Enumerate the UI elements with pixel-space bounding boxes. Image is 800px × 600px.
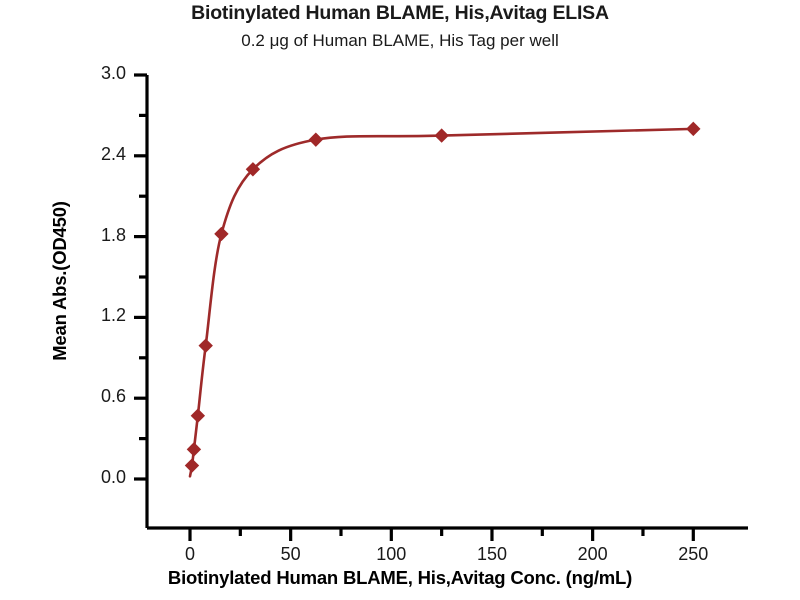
data-point-marker xyxy=(309,132,323,146)
data-point-marker xyxy=(214,227,228,241)
x-tick-label: 100 xyxy=(356,544,426,565)
data-point-marker xyxy=(187,442,201,456)
data-series xyxy=(185,122,701,477)
data-point-marker xyxy=(199,338,213,352)
y-tick-label: 3.0 xyxy=(68,63,126,84)
data-point-marker xyxy=(191,409,205,423)
x-tick-label: 0 xyxy=(155,544,225,565)
x-tick-label: 150 xyxy=(457,544,527,565)
axes xyxy=(134,75,748,541)
data-point-marker xyxy=(434,128,448,142)
fit-curve xyxy=(190,129,693,476)
y-tick-label: 1.2 xyxy=(68,305,126,326)
data-point-marker xyxy=(185,458,199,472)
x-tick-label: 200 xyxy=(558,544,628,565)
y-tick-label: 2.4 xyxy=(68,144,126,165)
y-tick-label: 0.0 xyxy=(68,467,126,488)
y-tick-label: 0.6 xyxy=(68,386,126,407)
x-tick-label: 250 xyxy=(658,544,728,565)
y-tick-label: 1.8 xyxy=(68,225,126,246)
x-tick-label: 50 xyxy=(256,544,326,565)
data-point-marker xyxy=(686,122,700,136)
plot-area xyxy=(0,0,800,600)
elisa-chart-figure: Biotinylated Human BLAME, His,Avitag ELI… xyxy=(0,0,800,600)
